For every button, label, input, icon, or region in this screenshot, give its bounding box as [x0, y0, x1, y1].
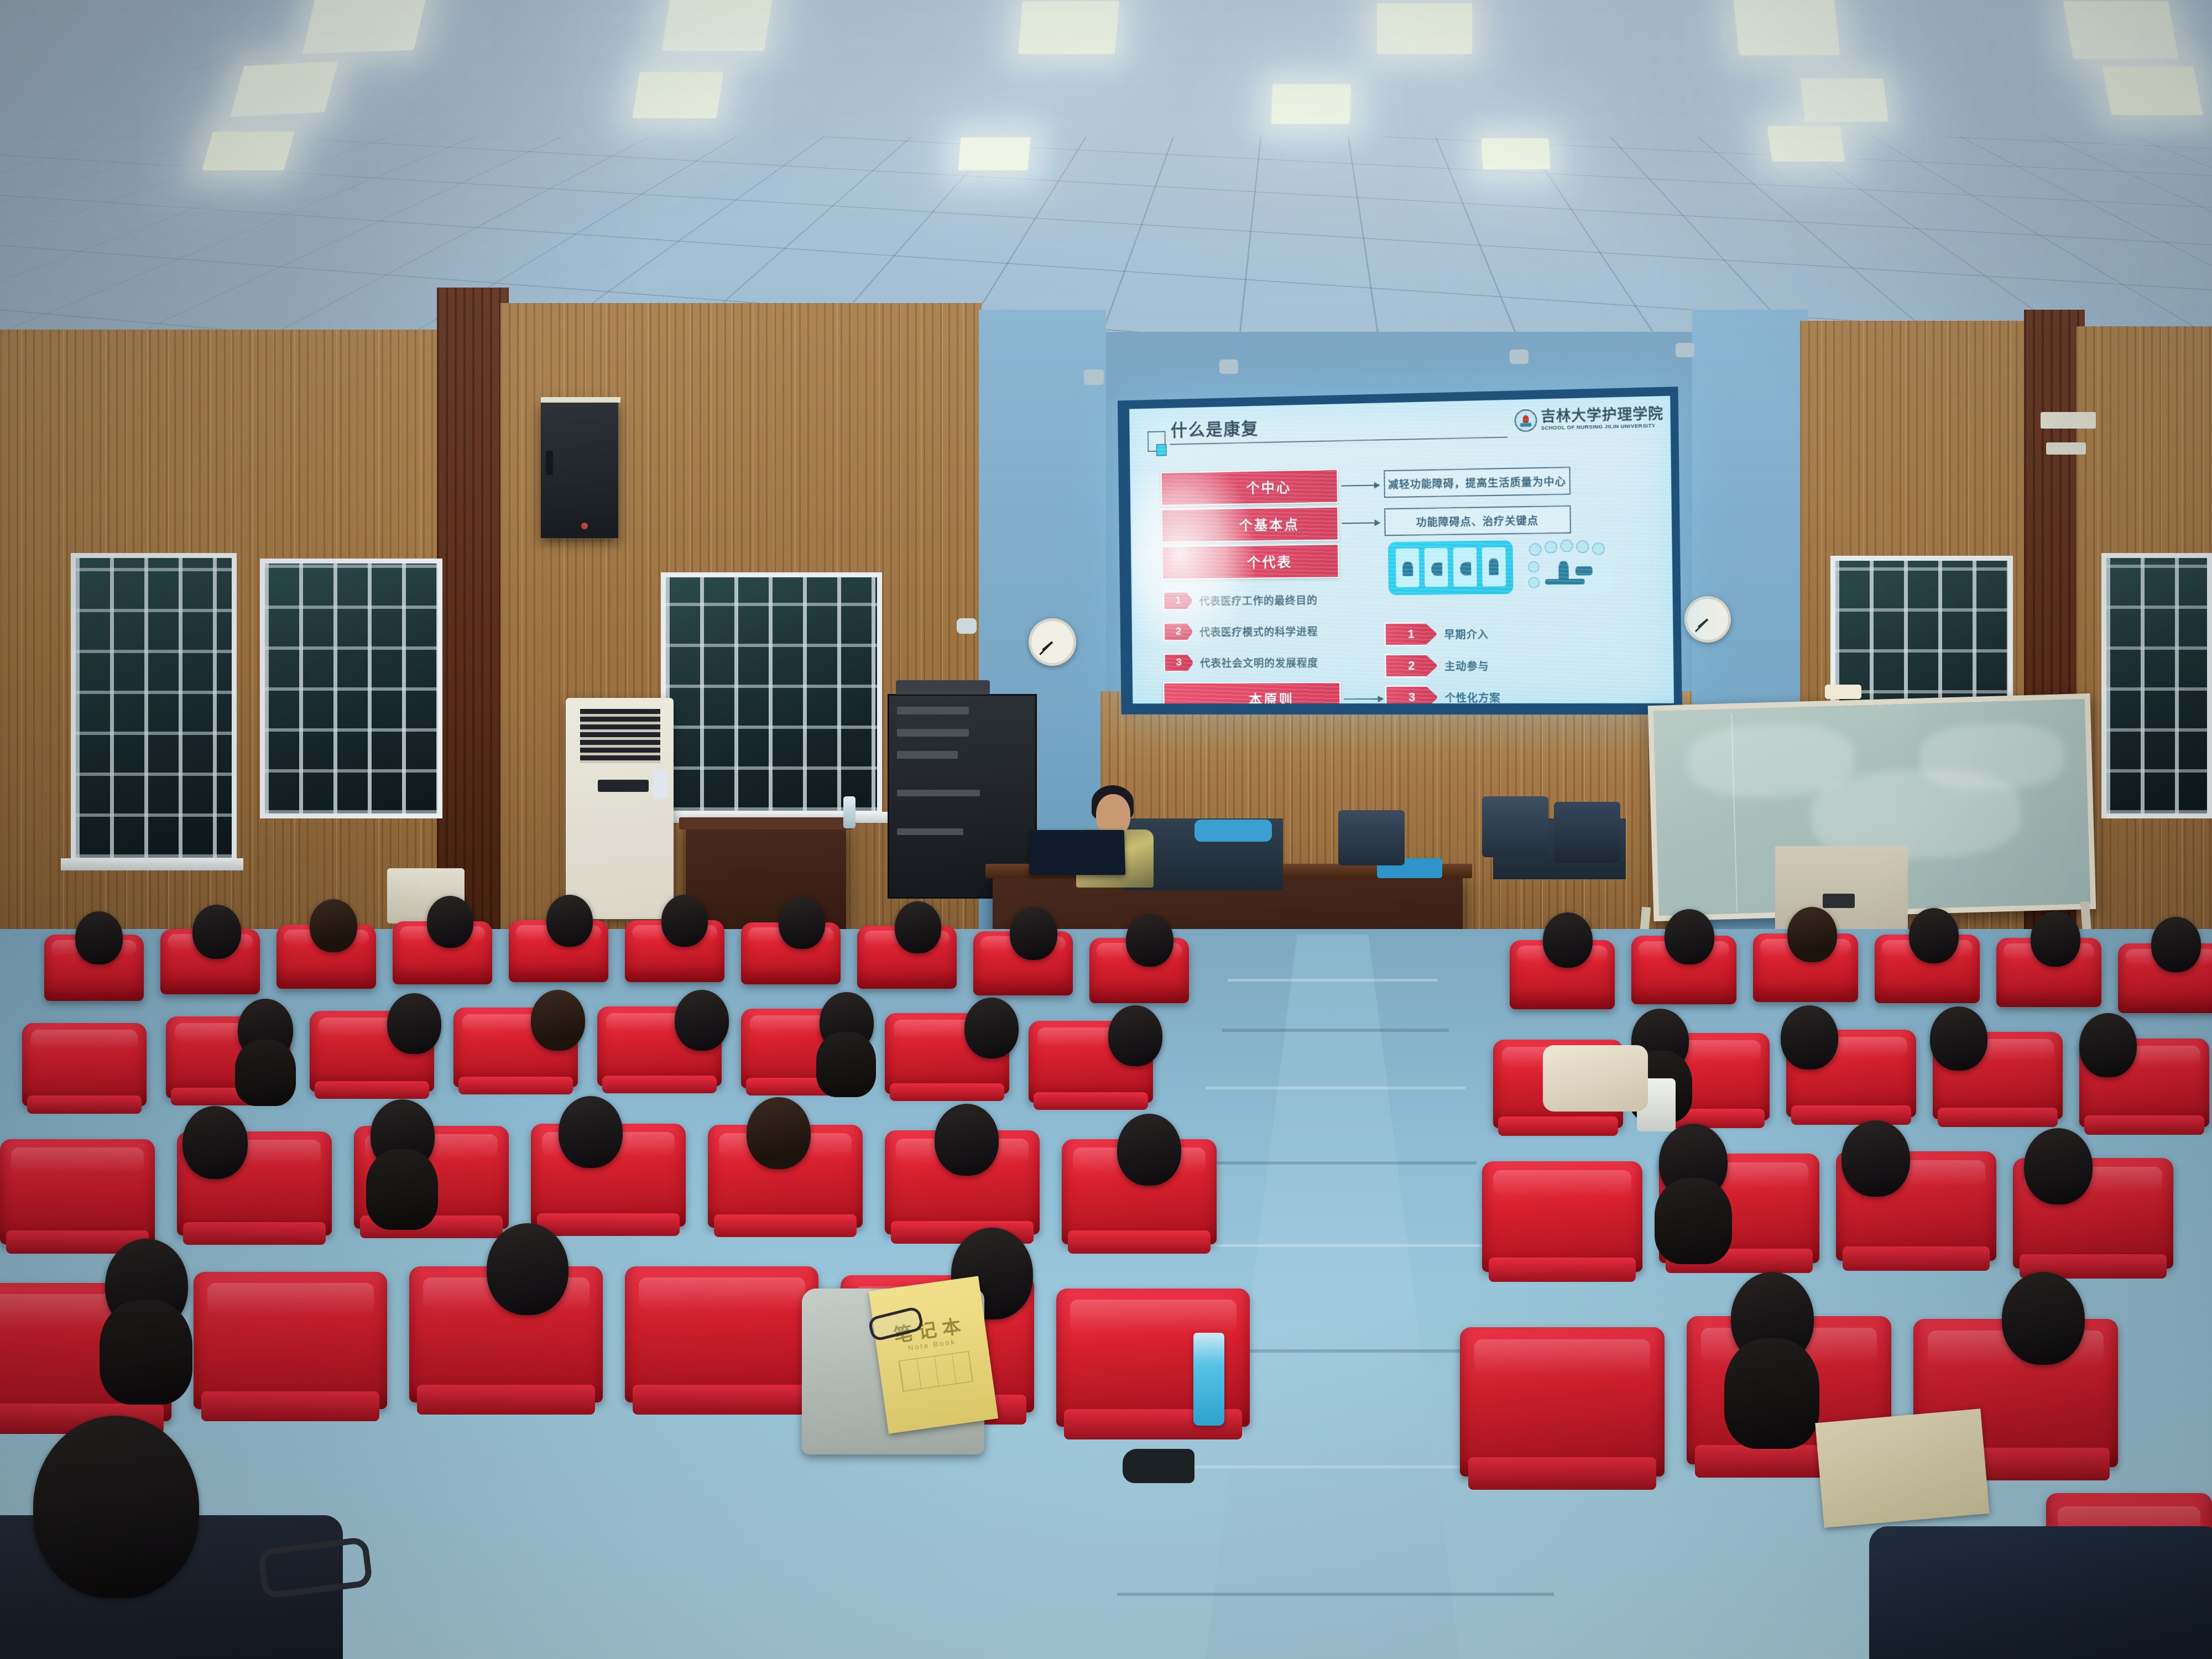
wall-clock-left [1029, 618, 1076, 666]
air-conditioner-vent [598, 780, 649, 792]
arrow-to-callout-1 [1341, 484, 1379, 486]
callout-center: 减轻功能障碍，提高生活质量为中心 [1384, 467, 1571, 498]
window-left-1 [71, 553, 237, 863]
representation-number: 1 [1163, 591, 1193, 610]
foreground-student-head [33, 1416, 199, 1598]
audience-head [1930, 1006, 1987, 1071]
air-conditioner-grill [580, 709, 660, 763]
wall-switch [2046, 442, 2086, 455]
representation-item: 2 代表医疗模式的科学进程 [1164, 622, 1318, 641]
title-square-filled-icon [1156, 444, 1167, 456]
audience-head [661, 895, 708, 947]
stage-chair [1554, 802, 1620, 863]
audience-head [1781, 1005, 1838, 1070]
clock-minute-hand [1039, 641, 1053, 655]
ceiling-light-panel [1271, 84, 1352, 124]
audience-long-hair [366, 1149, 438, 1230]
ceiling-mount-hook [1084, 369, 1104, 385]
audience-head [427, 896, 473, 948]
representation-number: 3 [1164, 654, 1194, 672]
aisle-step-edge [1178, 1244, 1493, 1247]
window-left-2 [260, 559, 442, 818]
representation-number: 2 [1164, 623, 1193, 641]
wall-sensor [957, 618, 977, 634]
audience-head [747, 1097, 811, 1169]
audience-head [2024, 1128, 2093, 1204]
representation-item: 1 代表医疗工作的最终目的 [1163, 590, 1318, 610]
audience-head [559, 1096, 623, 1168]
lecture-hall-photo: 什么是康复 吉林大学护理学院 SCHOOL OF NURSING JILIN U… [0, 0, 2212, 1659]
arrow-to-callout-2 [1342, 522, 1380, 524]
principles-bar-label: 本原则 [1249, 689, 1294, 703]
audience-head [310, 899, 357, 952]
audience-head [675, 990, 729, 1051]
school-crest-icon [1515, 409, 1537, 432]
blue-bag [1194, 820, 1272, 842]
audience-head [1108, 1005, 1162, 1066]
auditorium-seat[interactable] [625, 1266, 818, 1402]
principle-number: 2 [1385, 654, 1438, 677]
ceiling-mount-hook [1219, 359, 1238, 374]
audience-head [895, 901, 941, 953]
principle-item: 1 早期介入 [1385, 622, 1489, 646]
callout-basics: 功能障碍点、治疗关键点 [1384, 505, 1571, 536]
notebook-name-grid [899, 1351, 973, 1391]
stage-chair [1338, 810, 1405, 865]
bag-on-seat-right [1543, 1045, 1648, 1112]
audience-head [2002, 1272, 2085, 1365]
ceiling-light-panel [1800, 79, 1888, 122]
concept-bar-center: 个中心 [1161, 469, 1338, 506]
stage-chair [1482, 796, 1548, 857]
ceiling-light-panel [202, 132, 295, 170]
representation-text: 代表医疗模式的科学进程 [1199, 623, 1318, 639]
principle-number: 1 [1385, 622, 1438, 646]
audience-head [1010, 907, 1057, 960]
audience-head [75, 911, 123, 964]
rack-top-items [896, 680, 990, 695]
open-notebook-right [1815, 1408, 1989, 1527]
audience-head [2151, 917, 2201, 972]
concept-bar-label: 个代表 [1247, 551, 1292, 572]
audience-head [531, 990, 585, 1051]
cabinet-handle [1823, 894, 1855, 908]
audience-head [1665, 909, 1714, 964]
ceiling-light-panel [1481, 138, 1551, 169]
audience-head [2079, 1013, 2137, 1077]
audience-head [1841, 1120, 1910, 1197]
representation-text: 代表社会文明的发展程度 [1200, 655, 1318, 670]
audience-head [387, 993, 441, 1054]
principle-number: 3 [1385, 686, 1438, 703]
audience-head [779, 897, 825, 949]
auditorium-seat[interactable] [22, 1023, 147, 1106]
aisle-step-shadow [1222, 1029, 1449, 1032]
lectern-top [679, 817, 853, 830]
ceiling-light-panel [2063, 1, 2178, 59]
ceiling-light-panel [302, 0, 428, 54]
ceiling-light-panel [2102, 66, 2203, 115]
audience-head [192, 905, 241, 959]
ceiling-light-panel [1377, 3, 1472, 54]
audience-head [487, 1223, 568, 1315]
presentation-slide: 什么是康复 吉林大学护理学院 SCHOOL OF NURSING JILIN U… [1129, 396, 1674, 703]
concept-bar-basics: 个基本点 [1161, 507, 1339, 543]
ceiling-light-panel [662, 0, 773, 51]
aisle-step-shadow [1194, 1161, 1477, 1165]
audience-long-hair [816, 1032, 876, 1097]
wall-speaker [541, 401, 618, 538]
principle-text: 个性化方案 [1445, 690, 1501, 703]
school-logo: 吉林大学护理学院 SCHOOL OF NURSING JILIN UNIVERS… [1515, 406, 1664, 432]
ceiling-light-panel [1018, 1, 1119, 54]
projection-screen: 什么是康复 吉林大学护理学院 SCHOOL OF NURSING JILIN U… [1118, 387, 1682, 714]
aisle-step-shadow [1117, 1593, 1554, 1596]
wall-outlet-panel [2041, 412, 2096, 429]
audience-head [1126, 914, 1173, 967]
audience-long-hair [235, 1040, 296, 1106]
ceiling-mount-hook [1510, 349, 1528, 364]
aisle-step-edge [1206, 1087, 1465, 1089]
representation-text: 代表医疗工作的最终目的 [1199, 592, 1318, 608]
whiteboard-eraser [1825, 685, 1861, 699]
therapy-scene-icon [1524, 538, 1615, 595]
rehab-progress-icon [1388, 540, 1514, 595]
foreground-student-shoulders [1869, 1526, 2212, 1659]
air-conditioner [566, 698, 674, 919]
audience-head [964, 998, 1019, 1058]
yellow-notebook: 笔记本 Note Book [869, 1276, 998, 1433]
audience-long-hair [1724, 1338, 1819, 1449]
wall-clock-right [1684, 596, 1731, 643]
air-conditioner-display [653, 770, 669, 799]
concept-bar-representations: 个代表 [1161, 544, 1339, 580]
ceiling [0, 0, 2212, 365]
auditorium-seat[interactable] [1482, 1161, 1642, 1272]
auditorium-seat[interactable] [0, 1139, 155, 1244]
water-bottle [1193, 1333, 1224, 1426]
audience-long-hair [100, 1300, 192, 1405]
arrow-to-principles [1344, 698, 1383, 700]
clock-minute-hand [1695, 619, 1708, 632]
window-sill-left [61, 858, 243, 870]
audience-head [1787, 907, 1837, 962]
ceiling-light-panel [1734, 0, 1840, 55]
window-center [661, 572, 882, 816]
callout-text: 减轻功能障碍，提高生活质量为中心 [1388, 473, 1566, 492]
principle-text: 主动参与 [1444, 658, 1489, 673]
audience-long-hair [1655, 1178, 1732, 1264]
ceiling-light-panel [1767, 126, 1845, 161]
wood-column-left [437, 288, 509, 946]
concept-bar-label: 个中心 [1246, 477, 1291, 497]
audience-head [1117, 1114, 1181, 1186]
principle-text: 早期介入 [1444, 626, 1489, 641]
audience-head [2031, 911, 2080, 967]
ceiling-light-panel [632, 72, 723, 118]
ceiling-light-panel [958, 137, 1030, 170]
ceiling-shadow [0, 0, 2212, 365]
shoe-on-floor [1123, 1449, 1194, 1483]
principles-bar: 本原则 [1163, 682, 1340, 703]
audience-head [182, 1106, 248, 1179]
principle-item: 3 个性化方案 [1385, 686, 1501, 704]
auditorium-seat[interactable] [194, 1272, 387, 1409]
ceiling-mount-hook [1676, 343, 1694, 357]
representation-item: 3 代表社会文明的发展程度 [1164, 653, 1319, 672]
aisle-step-edge [1228, 979, 1438, 982]
audience-head [935, 1104, 999, 1176]
callout-text: 功能障碍点、治疗关键点 [1416, 512, 1538, 529]
audience-head [546, 895, 593, 947]
audience-head [1543, 912, 1593, 968]
principle-item: 2 主动参与 [1385, 654, 1489, 677]
slide-title: 什么是康复 [1171, 415, 1259, 441]
ceiling-light-panel [230, 61, 338, 117]
concept-bar-label: 个基本点 [1239, 514, 1300, 535]
presenter-laptop [1029, 830, 1125, 875]
auditorium-seat[interactable] [1460, 1327, 1665, 1477]
school-name-cn: 吉林大学护理学院 [1541, 406, 1663, 424]
water-bottle-on-ledge [843, 796, 855, 828]
audience-head [1909, 908, 1959, 963]
window-right-2 [2101, 553, 2212, 818]
